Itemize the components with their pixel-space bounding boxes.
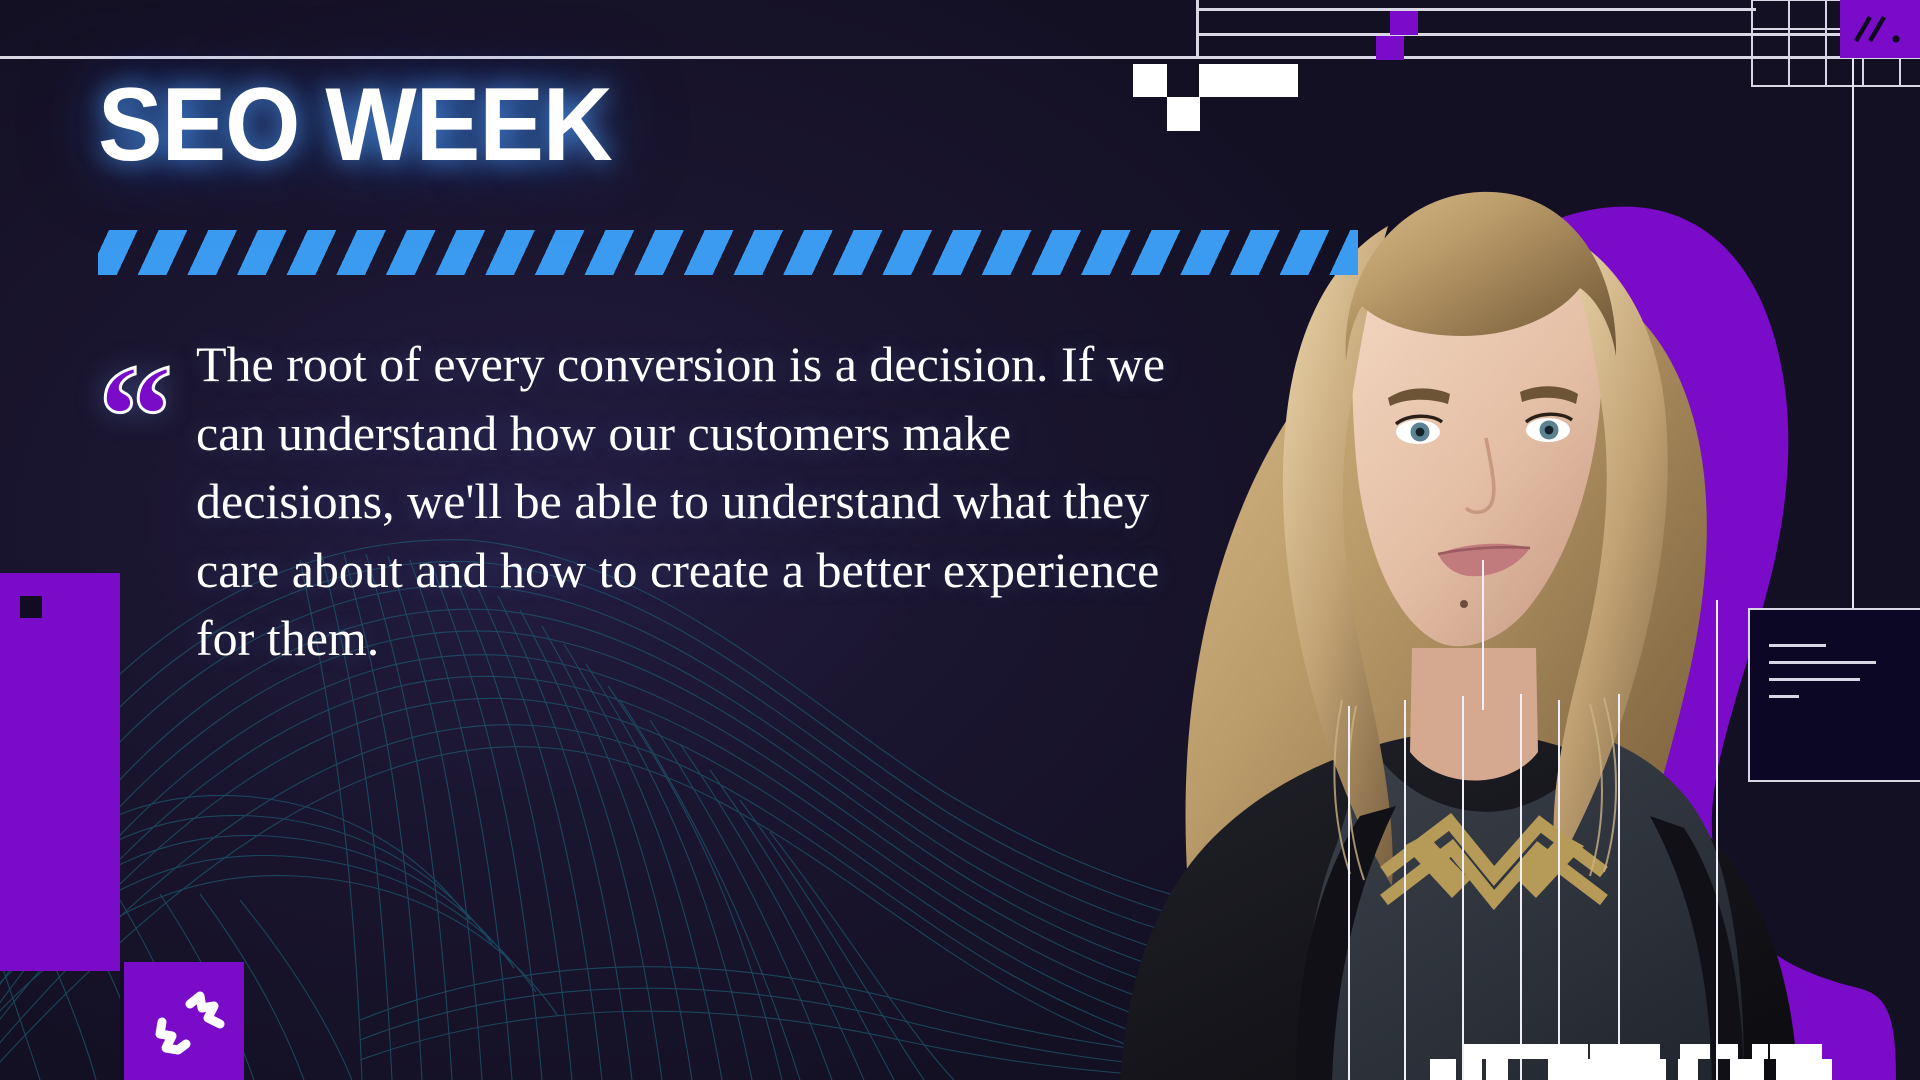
slide-canvas: SEO WEEK “ The root of every conversion …: [0, 0, 1920, 1080]
left-bottom-divider: [120, 962, 124, 1080]
diagonal-stripe-divider: [98, 230, 1358, 275]
open-quote-icon: “: [98, 342, 173, 492]
panel-line-3: [1769, 678, 1860, 681]
quote-text: The root of every conversion is a decisi…: [98, 330, 1168, 673]
zigzag-badge[interactable]: [124, 962, 244, 1080]
panel-line-2: [1769, 661, 1876, 664]
purple-block-notch: [20, 596, 42, 618]
navy-line-panel: [1748, 608, 1920, 782]
zigzag-arrows-icon: [124, 962, 244, 1080]
title-block: SEO WEEK: [98, 78, 651, 174]
pixel-dissolve-strip: [1430, 1036, 1920, 1080]
quote-block: “ The root of every conversion is a deci…: [98, 330, 1168, 673]
page-title: SEO WEEK: [98, 78, 612, 174]
panel-line-1: [1769, 644, 1826, 647]
panel-line-4: [1769, 695, 1799, 698]
